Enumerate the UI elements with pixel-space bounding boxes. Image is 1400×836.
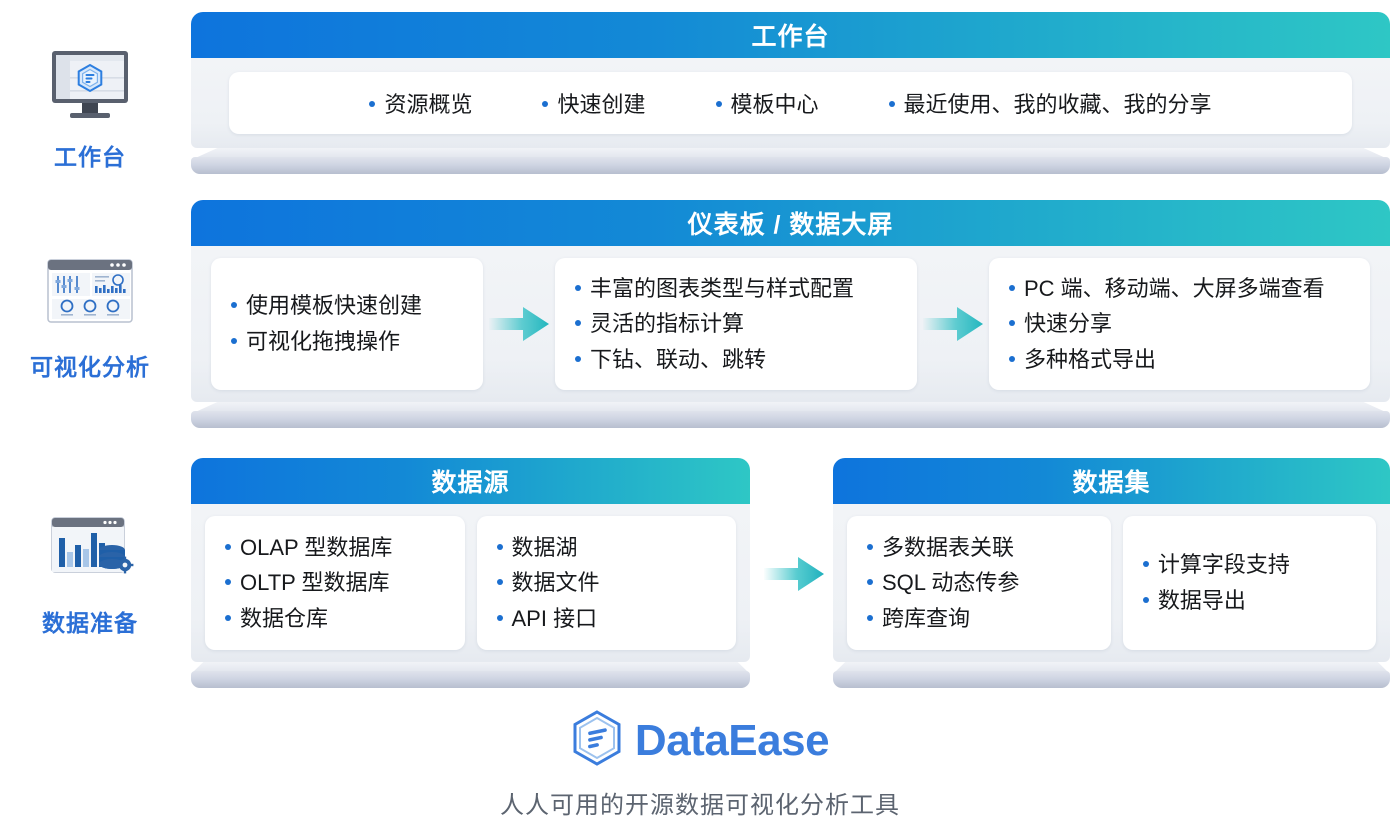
list-item: 数据仓库	[225, 601, 445, 637]
panel-dashboard: 仪表板 / 数据大屏 使用模板快速创建 可视化拖拽操作	[191, 200, 1390, 428]
brand-footer: DataEase 人人可用的开源数据可视化分析工具	[0, 710, 1400, 820]
dataset-card-modeling: 多数据表关联 SQL 动态传参 跨库查询	[847, 516, 1111, 650]
panel-base-data-source	[191, 662, 750, 688]
list-item-label: 使用模板快速创建	[246, 288, 422, 324]
dataset-card-fields: 计算字段支持 数据导出	[1123, 516, 1376, 650]
rail-item-data-preparation: 数据准备	[0, 508, 180, 638]
panel-title-dataset: 数据集	[833, 458, 1390, 504]
bullet-dot-icon	[497, 615, 503, 621]
list-item: SQL 动态传参	[867, 565, 1091, 601]
list-item: 数据导出	[1143, 583, 1356, 619]
bullet-dot-icon	[716, 101, 722, 107]
bullet-list: 丰富的图表类型与样式配置 灵活的指标计算 下钻、联动、跳转	[575, 271, 897, 378]
panel-body-dataset: 多数据表关联 SQL 动态传参 跨库查询 计算字段支持 数据导出	[833, 504, 1390, 662]
list-item: PC 端、移动端、大屏多端查看	[1009, 271, 1350, 307]
list-item: 数据文件	[497, 565, 717, 601]
bullet-dot-icon	[1009, 285, 1015, 291]
flow-arrow-data-source-to-dataset-icon	[762, 552, 826, 596]
list-item-label: PC 端、移动端、大屏多端查看	[1024, 271, 1325, 307]
panel-body-data-source: OLAP 型数据库 OLTP 型数据库 数据仓库 数据湖 数据文件 API 接口	[191, 504, 750, 662]
panel-workbench: 工作台 资源概览 快速创建 模板中心	[191, 12, 1390, 174]
rail-label-data-preparation: 数据准备	[0, 604, 180, 638]
rail-label-workbench: 工作台	[0, 138, 180, 172]
list-item-label: 多种格式导出	[1024, 342, 1156, 378]
list-item: OLTP 型数据库	[225, 565, 445, 601]
bullet-list: PC 端、移动端、大屏多端查看 快速分享 多种格式导出	[1009, 271, 1350, 378]
data-source-card-files: 数据湖 数据文件 API 接口	[477, 516, 737, 650]
list-item-label: 下钻、联动、跳转	[590, 342, 766, 378]
list-item-label: 模板中心	[731, 87, 819, 119]
brand-tagline: 人人可用的开源数据可视化分析工具	[500, 785, 900, 820]
bullet-dot-icon	[575, 285, 581, 291]
list-item: 可视化拖拽操作	[231, 324, 463, 360]
list-item-label: OLAP 型数据库	[240, 530, 392, 566]
bullet-dot-icon	[889, 101, 895, 107]
list-item: 跨库查询	[867, 601, 1091, 637]
panel-base-dashboard	[191, 402, 1390, 428]
bullet-dot-icon	[225, 615, 231, 621]
panel-body-workbench: 资源概览 快速创建 模板中心 最近使用、我的收藏、我的分享	[191, 58, 1390, 148]
bullet-dot-icon	[231, 338, 237, 344]
bullet-dot-icon	[1009, 356, 1015, 362]
list-item: 多数据表关联	[867, 530, 1091, 566]
rail-label-visual-analysis: 可视化分析	[0, 348, 180, 382]
bar-chart-database-icon	[0, 508, 180, 594]
panel-title-workbench: 工作台	[191, 12, 1390, 58]
list-item: 快速分享	[1009, 306, 1350, 342]
flow-arrow-right-icon	[917, 258, 989, 390]
list-item: 下钻、联动、跳转	[575, 342, 897, 378]
list-item-label: OLTP 型数据库	[240, 565, 390, 601]
bullet-dot-icon	[867, 615, 873, 621]
bullet-dot-icon	[225, 579, 231, 585]
bullet-dot-icon	[575, 320, 581, 326]
dashboard-card-charting: 丰富的图表类型与样式配置 灵活的指标计算 下钻、联动、跳转	[555, 258, 917, 390]
bullet-list: 多数据表关联 SQL 动态传参 跨库查询	[867, 530, 1091, 637]
list-item: 最近使用、我的收藏、我的分享	[889, 87, 1212, 119]
list-item: 计算字段支持	[1143, 547, 1356, 583]
list-item-label: 数据导出	[1158, 583, 1246, 619]
bullet-dot-icon	[369, 101, 375, 107]
list-item-label: SQL 动态传参	[882, 565, 1019, 601]
rail-item-workbench: 工作台	[0, 42, 180, 172]
dataease-hexagon-logo-icon	[571, 710, 623, 771]
list-item-label: 多数据表关联	[882, 530, 1014, 566]
list-item-label: 跨库查询	[882, 601, 970, 637]
list-item-label: 丰富的图表类型与样式配置	[590, 271, 854, 307]
list-item: OLAP 型数据库	[225, 530, 445, 566]
panel-title-data-source: 数据源	[191, 458, 750, 504]
workbench-features-card: 资源概览 快速创建 模板中心 最近使用、我的收藏、我的分享	[229, 72, 1352, 134]
list-item-label: 快速创建	[557, 87, 645, 119]
list-item-label: 灵活的指标计算	[590, 306, 744, 342]
bullet-dot-icon	[542, 101, 548, 107]
list-item-label: 计算字段支持	[1158, 547, 1290, 583]
list-item-label: 数据仓库	[240, 601, 328, 637]
bullet-dot-icon	[867, 544, 873, 550]
dashboard-card-create: 使用模板快速创建 可视化拖拽操作	[211, 258, 483, 390]
list-item-label: 最近使用、我的收藏、我的分享	[904, 87, 1212, 119]
bullet-dot-icon	[225, 544, 231, 550]
dashboard-charts-icon	[0, 252, 180, 338]
panel-dataset: 数据集 多数据表关联 SQL 动态传参 跨库查询 计算字段支持 数据导出	[833, 458, 1390, 688]
list-item-label: API 接口	[512, 601, 598, 637]
list-item: API 接口	[497, 601, 717, 637]
bullet-dot-icon	[867, 579, 873, 585]
monitor-workbench-icon	[0, 42, 180, 128]
flow-arrow-right-icon	[483, 258, 555, 390]
list-item: 丰富的图表类型与样式配置	[575, 271, 897, 307]
panel-base-workbench	[191, 148, 1390, 174]
list-item: 多种格式导出	[1009, 342, 1350, 378]
list-item: 数据湖	[497, 530, 717, 566]
panel-base-dataset	[833, 662, 1390, 688]
brand-name: DataEase	[635, 716, 829, 766]
panel-title-dashboard: 仪表板 / 数据大屏	[191, 200, 1390, 246]
list-item-label: 可视化拖拽操作	[246, 324, 400, 360]
bullet-dot-icon	[575, 356, 581, 362]
bullet-dot-icon	[1009, 320, 1015, 326]
list-item-label: 资源概览	[384, 87, 472, 119]
bullet-dot-icon	[231, 302, 237, 308]
bullet-dot-icon	[497, 544, 503, 550]
bullet-dot-icon	[1143, 561, 1149, 567]
bullet-dot-icon	[1143, 597, 1149, 603]
list-item: 模板中心	[716, 87, 819, 119]
bullet-dot-icon	[497, 579, 503, 585]
panel-body-dashboard: 使用模板快速创建 可视化拖拽操作	[191, 246, 1390, 402]
list-item-label: 快速分享	[1024, 306, 1112, 342]
bullet-list: 计算字段支持 数据导出	[1143, 547, 1356, 618]
panel-data-source: 数据源 OLAP 型数据库 OLTP 型数据库 数据仓库 数据湖 数据文件 AP…	[191, 458, 750, 688]
dashboard-card-viewing: PC 端、移动端、大屏多端查看 快速分享 多种格式导出	[989, 258, 1370, 390]
architecture-diagram: 工作台	[0, 0, 1400, 836]
list-item: 快速创建	[542, 87, 645, 119]
data-source-card-databases: OLAP 型数据库 OLTP 型数据库 数据仓库	[205, 516, 465, 650]
list-item: 灵活的指标计算	[575, 306, 897, 342]
bullet-list: 使用模板快速创建 可视化拖拽操作	[231, 288, 463, 359]
bullet-list: 数据湖 数据文件 API 接口	[497, 530, 717, 637]
rail-item-visual-analysis: 可视化分析	[0, 252, 180, 382]
bullet-list: OLAP 型数据库 OLTP 型数据库 数据仓库	[225, 530, 445, 637]
list-item-label: 数据湖	[512, 530, 578, 566]
list-item-label: 数据文件	[512, 565, 600, 601]
list-item: 资源概览	[369, 87, 472, 119]
list-item: 使用模板快速创建	[231, 288, 463, 324]
